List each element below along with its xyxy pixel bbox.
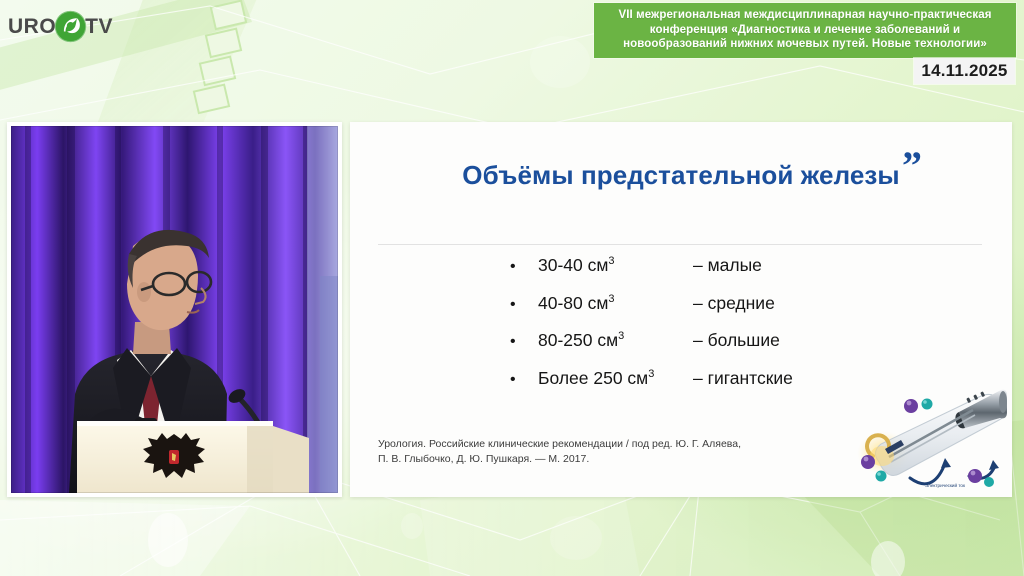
channel-logo[interactable]: URO TV (8, 10, 113, 43)
bullet-icon: • (510, 372, 538, 388)
list-item: • 80-250 см3 – большие (510, 330, 793, 368)
uro-tv-aperture-logo-icon (54, 10, 87, 43)
list-item-label: – средние (693, 293, 775, 314)
list-item: • 30-40 см3 – малые (510, 255, 793, 293)
conference-title-line-3: новообразований нижних мочевых путей. Но… (602, 37, 1008, 52)
screen: URO TV VII межрегиональная междисциплина… (0, 0, 1024, 576)
header-bar: URO TV VII межрегиональная междисциплина… (0, 0, 1024, 110)
bullet-icon: • (510, 297, 538, 313)
list-item-label: – малые (693, 255, 762, 276)
speaker-video-feed[interactable] (11, 126, 338, 493)
citation-line-2: П. В. Глыбочко, Д. Ю. Пушкаря. — М. 2017… (378, 452, 818, 467)
conference-title-line-1: VII межрегиональная междисциплинарная на… (602, 8, 1008, 23)
bipolar-electrode-instrument-illustration: Электрический ток (855, 384, 1007, 490)
list-item-label: – большие (693, 330, 780, 351)
speaker-video-panel[interactable] (7, 122, 342, 497)
molecule-icon (904, 399, 933, 414)
illustration-caption: Электрический ток (925, 482, 966, 488)
source-citation: Урология. Российские клинические рекомен… (378, 437, 818, 467)
title-divider (378, 244, 982, 245)
list-item-value: 80-250 см3 (538, 330, 693, 351)
bullet-icon: • (510, 334, 538, 350)
list-item-value: 30-40 см3 (538, 255, 693, 276)
conference-title-line-2: конференция «Диагностика и лечение забол… (602, 23, 1008, 38)
broadcast-date-badge: 14.11.2025 (914, 58, 1015, 84)
presentation-slide[interactable]: Объёмы предстательной железы ” • 30-40 с… (350, 122, 1012, 497)
list-item: • 40-80 см3 – средние (510, 293, 793, 331)
list-item-value: 40-80 см3 (538, 293, 693, 314)
list-item-label: – гигантские (693, 368, 793, 389)
list-item-value: Более 250 см3 (538, 368, 693, 389)
conference-title-banner: VII межрегиональная междисциплинарная на… (594, 3, 1016, 58)
quote-mark-icon: ” (902, 146, 922, 186)
logo-text-tv: TV (85, 16, 113, 37)
citation-line-1: Урология. Российские клинические рекомен… (378, 437, 818, 452)
bullet-icon: • (510, 259, 538, 275)
list-item: • Более 250 см3 – гигантские (510, 368, 793, 406)
prostate-volume-list: • 30-40 см3 – малые • 40-80 см3 – средни… (510, 255, 793, 405)
logo-text-uro: URO (8, 16, 56, 37)
broadcast-date: 14.11.2025 (921, 61, 1007, 81)
